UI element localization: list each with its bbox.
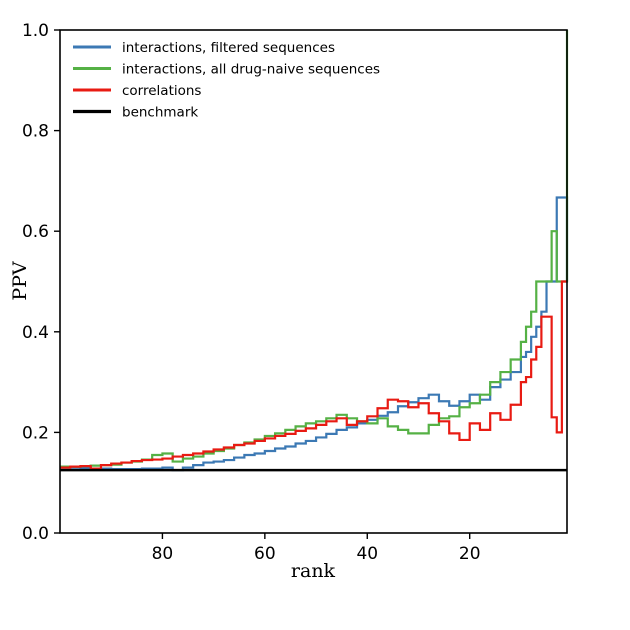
- chart-legend: interactions, filtered sequencesinteract…: [62, 32, 405, 121]
- ppv-rank-chart-figure: 0.00.20.40.60.81.0 80604020 PPV rank int…: [0, 0, 630, 630]
- x-tick-label: 20: [459, 544, 481, 564]
- y-tick-label: 0.8: [22, 122, 49, 142]
- y-axis-title: PPV: [9, 261, 31, 301]
- legend-label: interactions, all drug-naive sequences: [122, 62, 380, 78]
- y-tick-label: 0.0: [22, 524, 49, 544]
- y-tick-label: 0.4: [22, 323, 49, 343]
- legend-label: benchmark: [122, 105, 198, 121]
- legend-label: interactions, filtered sequences: [122, 40, 335, 56]
- x-axis-title: rank: [291, 560, 336, 582]
- chart-canvas: 0.00.20.40.60.81.0 80604020 PPV rank int…: [0, 0, 630, 630]
- x-tick-label: 80: [152, 544, 174, 564]
- x-tick-label: 40: [356, 544, 378, 564]
- y-tick-label: 1.0: [22, 21, 49, 41]
- x-tick-label: 60: [254, 544, 276, 564]
- legend-label: correlations: [122, 83, 201, 99]
- y-tick-label: 0.6: [22, 222, 49, 242]
- y-tick-label: 0.2: [22, 423, 49, 443]
